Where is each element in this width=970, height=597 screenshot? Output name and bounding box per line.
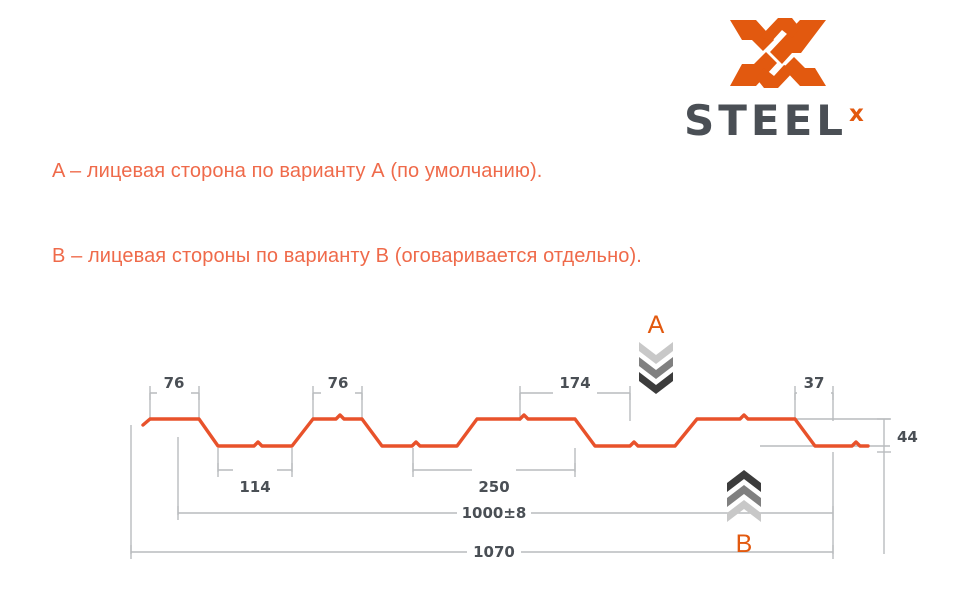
- dimension-label-total-width: 1070: [473, 543, 515, 561]
- side-marker-a-label: A: [648, 311, 665, 339]
- dimension-lines: [131, 384, 891, 561]
- side-marker-b: B: [727, 470, 761, 558]
- side-marker-a: A: [639, 311, 673, 394]
- side-marker-b-label: B: [736, 530, 753, 558]
- sheet-profile-outline: [143, 415, 868, 446]
- dimension-label-valley-width: 114: [239, 478, 270, 496]
- dimension-label-crest-width-left: 76: [164, 374, 185, 392]
- dimension-label-pitch: 250: [478, 478, 509, 496]
- dimension-label-edge-width: 37: [804, 374, 825, 392]
- profile-technical-drawing: 767611425017437441000±81070 A B: [0, 0, 970, 597]
- chevron-3: [727, 500, 761, 522]
- dimension-profile-height: [877, 419, 891, 452]
- dimension-label-profile-height: 44: [897, 428, 918, 446]
- chevron-1: [639, 342, 673, 364]
- dimension-label-rib-spacing: 174: [559, 374, 590, 392]
- dimension-label-crest-width-mid: 76: [328, 374, 349, 392]
- dimension-label-useful-width: 1000±8: [462, 504, 527, 522]
